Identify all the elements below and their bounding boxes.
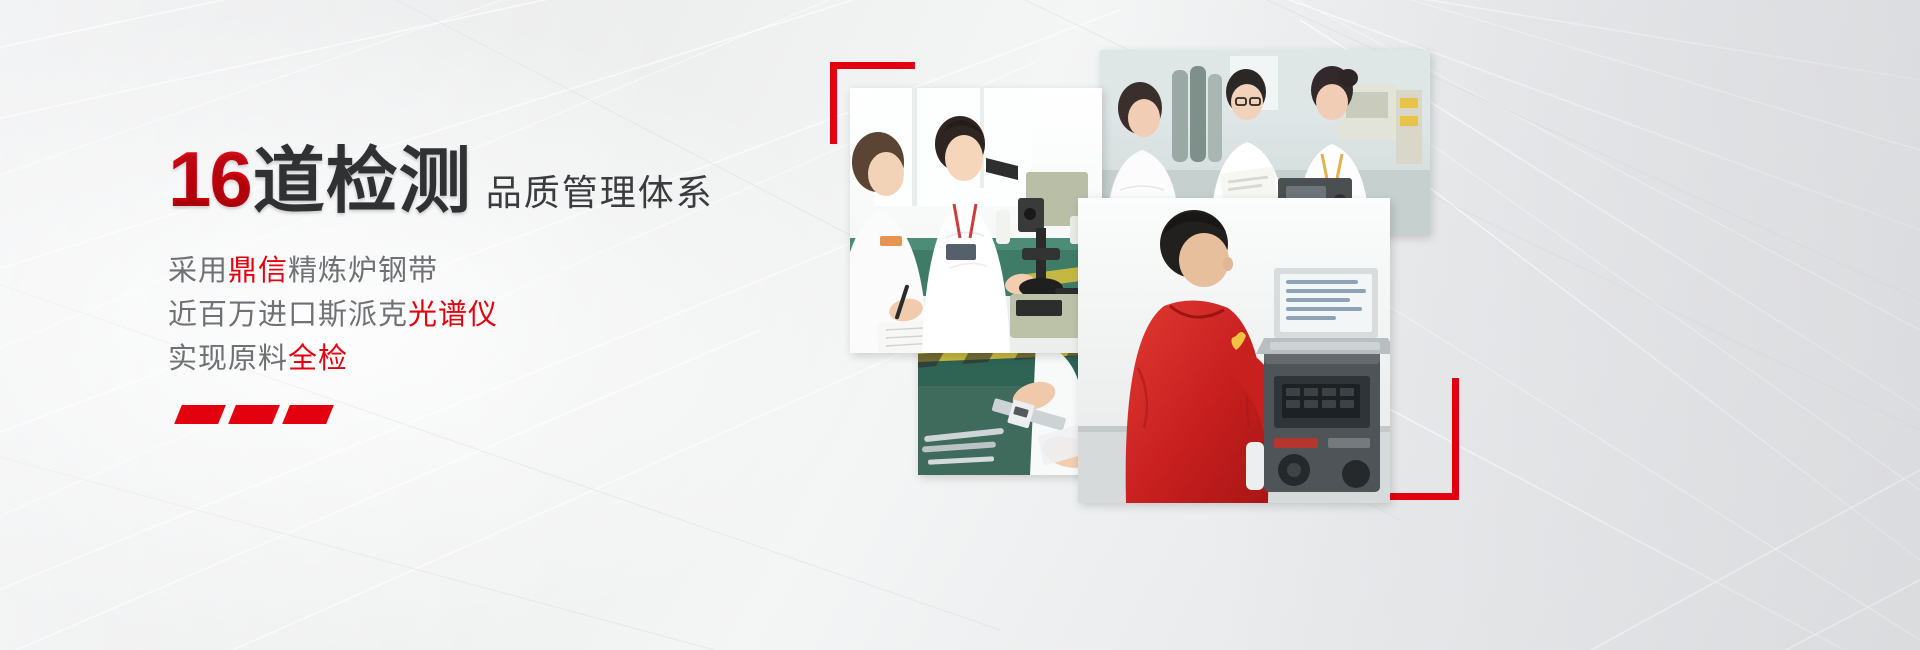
photo-collage — [810, 40, 1870, 550]
body-text-list: 采用鼎信精炼炉钢带 近百万进口斯派克光谱仪 实现原料全检 — [168, 248, 808, 380]
body-line-1: 采用鼎信精炼炉钢带 — [168, 248, 808, 292]
photo-spectrometer-operator — [1078, 198, 1390, 503]
headline-block: 16 道检测 品质管理体系 采用鼎信精炼炉钢带 近百万进口斯派克光谱仪 实现原料… — [168, 140, 808, 380]
body-line-1-pre: 采用 — [168, 253, 228, 287]
red-triple-dash — [178, 405, 338, 431]
dash-3 — [282, 405, 334, 424]
body-line-3: 实现原料全检 — [168, 336, 808, 380]
headline-number: 16 — [168, 140, 251, 218]
body-line-3-pre: 实现原料 — [168, 341, 288, 375]
dash-1 — [174, 405, 226, 424]
body-line-1-highlight: 鼎信 — [228, 253, 288, 287]
headline-subtitle: 品质管理体系 — [486, 176, 714, 212]
dash-2 — [228, 405, 280, 424]
body-line-2-pre: 近百万进口斯派克 — [168, 297, 408, 331]
headline-main-text: 道检测 — [253, 145, 472, 217]
body-line-2-highlight: 光谱仪 — [408, 297, 498, 331]
page-title: 16 道检测 品质管理体系 — [168, 140, 808, 218]
quality-banner: 16 道检测 品质管理体系 采用鼎信精炼炉钢带 近百万进口斯派克光谱仪 实现原料… — [0, 0, 1920, 650]
photo-microscope-inspection — [850, 88, 1102, 353]
body-line-2: 近百万进口斯派克光谱仪 — [168, 292, 808, 336]
body-line-3-highlight: 全检 — [288, 341, 348, 375]
body-line-1-post: 精炼炉钢带 — [288, 253, 438, 287]
